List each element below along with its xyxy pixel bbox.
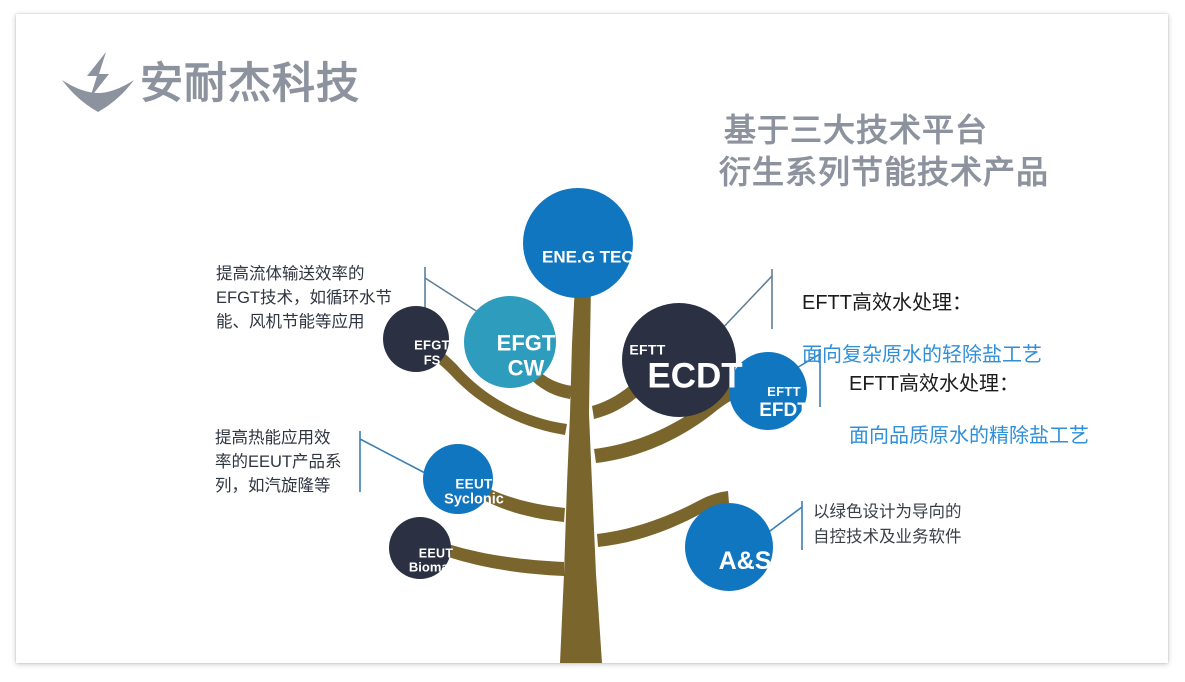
tree-node-eneg-tech[interactable] (523, 188, 633, 298)
slide-root: 安耐杰科技 基于三大技术平台 衍生系列节能技术产品 (0, 0, 1185, 682)
annotation-eeut: 提高热能应用效 率的EEUT产品系 列，如汽旋隆等 (215, 427, 405, 498)
tree-node-efgt-cw[interactable] (464, 296, 556, 388)
annotation-as: 以绿色设计为导向的 自控技术及业务软件 (813, 500, 1043, 550)
annotation-eftt-complex-title: EFTT高效水处理： (802, 289, 1162, 318)
tree-node-eftt-ecdt[interactable] (622, 303, 736, 417)
tree-node-eeut-syclonic[interactable] (423, 444, 493, 514)
tree-node-eeut-biomass[interactable] (389, 517, 451, 579)
annotation-efgt: 提高流体输送效率的 EFGT技术，如循环水节 能、风机节能等应用 (216, 263, 431, 334)
tree-node-as[interactable] (685, 503, 773, 591)
slide-card: 安耐杰科技 基于三大技术平台 衍生系列节能技术产品 (16, 14, 1168, 663)
annotation-eftt-quality-subtitle: 面向品质原水的精除盐工艺 (849, 422, 1168, 451)
tree-nodes (383, 188, 807, 591)
annotation-eftt-quality: EFTT高效水处理： 面向品质原水的精除盐工艺 (849, 347, 1168, 474)
annotation-eftt-quality-title: EFTT高效水处理： (849, 370, 1168, 399)
tree-node-eftt-efdt[interactable] (729, 352, 807, 430)
